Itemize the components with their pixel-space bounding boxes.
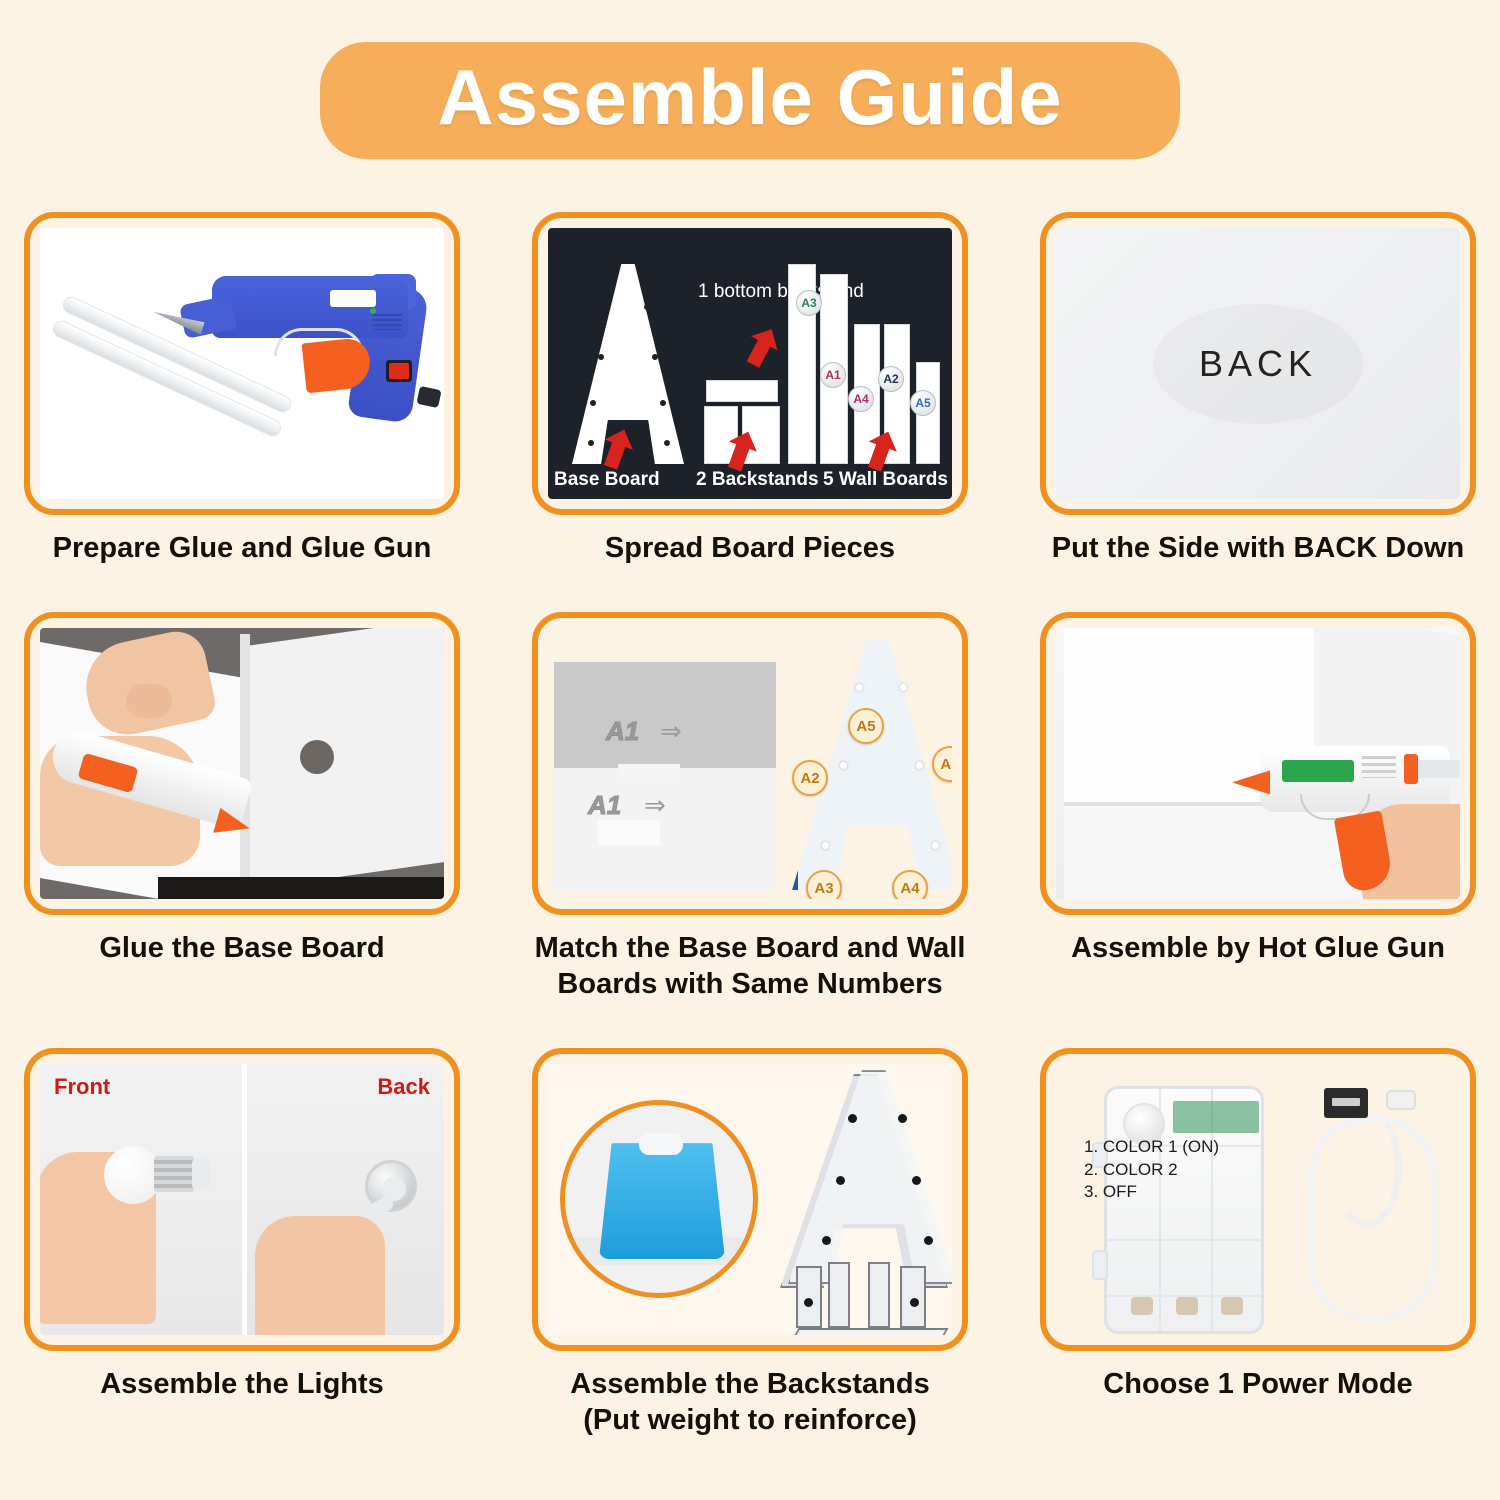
board-badge-a5: A5 — [910, 390, 936, 416]
glue-gun-vent — [372, 314, 402, 330]
board-hole — [652, 354, 658, 360]
backstand-piece — [828, 1262, 850, 1328]
hand-icon — [255, 1216, 385, 1335]
step-cell-5: A1 ⇒ A1 ⇒ — [532, 612, 968, 1002]
step-cell-3: BACK Put the Side with BACK Down — [1040, 212, 1476, 566]
front-view-photo: Front — [40, 1064, 242, 1335]
letter-badge-a1: A1 — [932, 746, 952, 782]
letter-a-assembled: A5 A2 A1 A3 A4 — [782, 634, 952, 899]
board-hole — [644, 304, 650, 310]
step-caption-7: Assemble the Lights — [24, 1367, 460, 1402]
letter-badge-a3: A3 — [806, 870, 842, 899]
step-card-2: 1 bottom backstand A3 A1 A2 A4 — [532, 212, 968, 515]
step-caption-1: Prepare Glue and Glue Gun — [24, 531, 460, 566]
title-banner: Assemble Guide — [320, 42, 1180, 159]
step-caption-8: Assemble the Backstands (Put weight to r… — [532, 1367, 968, 1438]
arrow-right-icon: ⇒ — [660, 716, 682, 747]
power-mode-1: 1. COLOR 1 (ON) — [1084, 1136, 1219, 1158]
board-badge-a1: A1 — [820, 362, 846, 388]
step-caption-4: Glue the Base Board — [24, 931, 460, 966]
row-gap — [532, 566, 968, 612]
step-card-3: BACK — [1040, 212, 1476, 515]
board-badge-a2: A2 — [878, 366, 904, 392]
arrow-right-icon: ⇒ — [644, 790, 666, 821]
step-caption-3: Put the Side with BACK Down — [1040, 531, 1476, 566]
steps-grid: Prepare Glue and Glue Gun 1 bottom backs… — [24, 212, 1476, 1438]
board-hole — [660, 400, 666, 406]
board-pieces-diagram: 1 bottom backstand A3 A1 A2 A4 — [548, 228, 952, 499]
label-backstands: 2 Backstands — [696, 469, 819, 491]
backstands-illustration — [548, 1064, 952, 1335]
assemble-guide-page: Assemble Guide — [0, 0, 1500, 1500]
glue-base-board-photo — [40, 628, 444, 899]
board-tab — [618, 764, 680, 778]
step-cell-9: 1. COLOR 1 (ON) 2. COLOR 2 3. OFF Choose… — [1040, 1048, 1476, 1438]
bulb-tip — [192, 1159, 210, 1189]
step-card-5: A1 ⇒ A1 ⇒ — [532, 612, 968, 915]
table-edge — [158, 877, 444, 899]
title-container: Assemble Guide — [0, 0, 1500, 159]
board-badge-a3: A3 — [796, 290, 822, 316]
board-hole — [588, 440, 594, 446]
backstand-piece — [900, 1266, 926, 1328]
board-hole — [598, 354, 604, 360]
step-card-9: 1. COLOR 1 (ON) 2. COLOR 2 3. OFF — [1040, 1048, 1476, 1351]
bulb-screw-base — [154, 1156, 194, 1192]
glue-gun-clip — [1404, 754, 1418, 784]
row-gap — [24, 566, 460, 612]
row-gap — [532, 1002, 968, 1048]
letter-a-3d-drawing — [764, 1070, 952, 1335]
power-mode-3: 3. OFF — [1084, 1181, 1219, 1203]
glue-gun-brand-label — [1282, 760, 1354, 782]
back-label: Back — [377, 1074, 430, 1100]
step-card-1 — [24, 212, 460, 515]
backstand-piece — [796, 1266, 822, 1328]
glue-gun-cord-cap — [416, 386, 441, 408]
step-cell-1: Prepare Glue and Glue Gun — [24, 212, 460, 566]
step-caption-9: Choose 1 Power Mode — [1040, 1367, 1476, 1402]
usb-cable-loop — [1332, 1108, 1402, 1228]
step-caption-5: Match the Base Board and Wall Boards wit… — [532, 931, 968, 1002]
page-title: Assemble Guide — [398, 56, 1102, 139]
back-label: BACK — [1199, 343, 1317, 385]
battery-box-icon — [1104, 1086, 1264, 1334]
glue-gun-vent — [1362, 756, 1396, 778]
board-right — [246, 628, 444, 890]
step-card-8 — [532, 1048, 968, 1351]
usb-connector-icon — [1324, 1088, 1368, 1118]
board-hole — [664, 440, 670, 446]
front-label: Front — [54, 1074, 110, 1100]
box-seam — [1107, 1239, 1261, 1241]
step-cell-6: Assemble by Hot Glue Gun — [1040, 612, 1476, 1002]
letter-a-face — [788, 1070, 952, 1284]
back-board-photo: BACK — [1056, 228, 1460, 499]
backstand-piece — [868, 1262, 890, 1328]
step-cell-8: Assemble the Backstands (Put weight to r… — [532, 1048, 968, 1438]
glue-gun-illustration — [40, 228, 444, 499]
back-view-photo: Back — [242, 1064, 444, 1335]
glue-gun-indicator-icon — [370, 308, 376, 314]
board-hole — [590, 400, 596, 406]
board-hole — [898, 1114, 907, 1123]
battery-cells — [1119, 1293, 1255, 1319]
board-edge — [240, 634, 250, 884]
row-gap — [1040, 566, 1476, 612]
match-numbers-illustration: A1 ⇒ A1 ⇒ — [548, 628, 952, 899]
water-bag-icon — [599, 1143, 725, 1259]
step-caption-6: Assemble by Hot Glue Gun — [1040, 931, 1476, 966]
glue-gun-label — [330, 290, 376, 307]
glue-gun-power-switch-icon — [386, 360, 412, 382]
row-gap — [24, 1002, 460, 1048]
power-mode-illustration: 1. COLOR 1 (ON) 2. COLOR 2 3. OFF — [1056, 1064, 1460, 1335]
step-card-7: Front Back — [24, 1048, 460, 1351]
board-badge-a4: A4 — [848, 386, 874, 412]
row-gap — [1040, 1002, 1476, 1048]
base-plate — [789, 1328, 948, 1335]
label-base-board: Base Board — [554, 469, 660, 491]
board-hole — [900, 684, 907, 691]
backstand-piece — [706, 380, 778, 402]
step-card-4 — [24, 612, 460, 915]
step-cell-7: Front Back Assemble the Lights — [24, 1048, 460, 1438]
water-bag-inset — [560, 1100, 758, 1298]
board-closeup-photo: A1 ⇒ A1 ⇒ — [554, 662, 776, 892]
hot-glue-assembly-photo — [1056, 628, 1460, 899]
glue-stick-icon — [1412, 760, 1460, 778]
label-wall-boards: 5 Wall Boards — [823, 469, 948, 491]
base-board-arrow-icon — [604, 440, 626, 469]
power-mode-2: 2. COLOR 2 — [1084, 1159, 1219, 1181]
dc-plug-icon — [1386, 1090, 1416, 1110]
callout-arrow-icon — [747, 338, 772, 368]
water-bag-cap-icon — [639, 1133, 683, 1155]
step-cell-2: 1 bottom backstand A3 A1 A2 A4 — [532, 212, 968, 566]
photo-label-a1-top: A1 — [606, 716, 639, 747]
lights-photo: Front Back — [40, 1064, 444, 1335]
step-caption-2: Spread Board Pieces — [532, 531, 968, 566]
box-tab — [1092, 1250, 1108, 1280]
step-card-6 — [1040, 612, 1476, 915]
circuit-board — [1173, 1101, 1259, 1133]
letter-badge-a4: A4 — [892, 870, 928, 899]
board-tab — [598, 820, 660, 846]
board-hole — [604, 304, 610, 310]
finger-icon — [126, 684, 172, 718]
power-mode-list: 1. COLOR 1 (ON) 2. COLOR 2 3. OFF — [1084, 1136, 1219, 1203]
photo-label-a1-bottom: A1 — [588, 790, 621, 821]
step-cell-4: Glue the Base Board — [24, 612, 460, 1002]
